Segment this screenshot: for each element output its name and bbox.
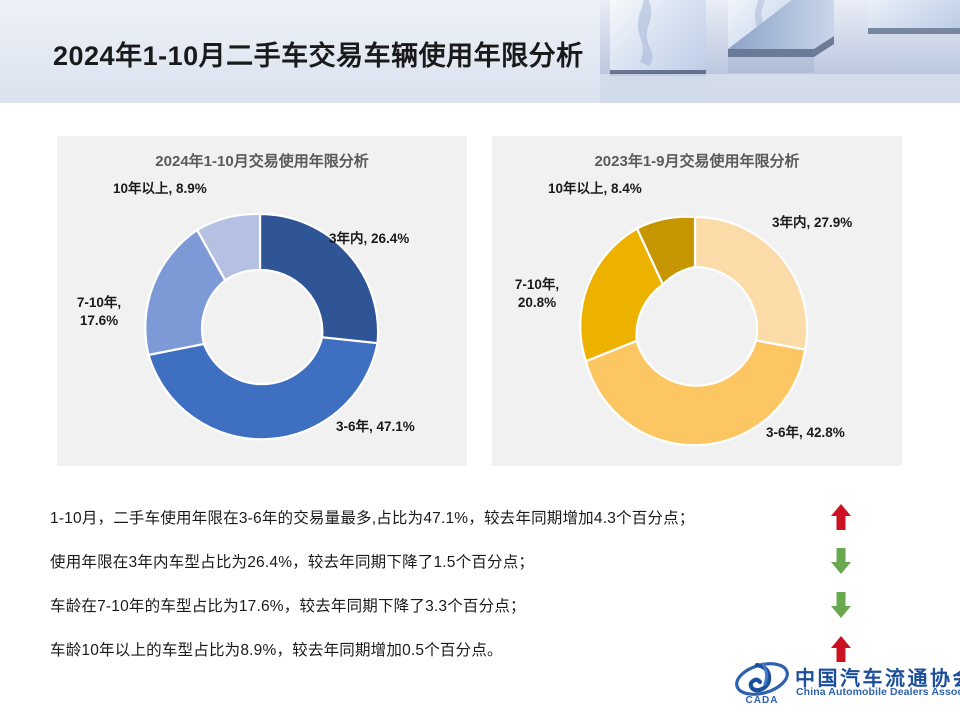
chart-label-2023-3nei: 3年内, 27.9%: [772, 214, 852, 232]
slide: 2024年1-10月二手车交易车辆使用年限分析 2024年1-10月交易使用年限…: [0, 0, 960, 720]
logo-name-en: China Automobile Dealers Association: [796, 686, 960, 698]
chart-label-2024-710: 7-10年, 17.6%: [63, 294, 135, 329]
chart-label-2023-36: 3-6年, 42.8%: [766, 424, 845, 442]
chart-label-2023-710: 7-10年, 20.8%: [498, 276, 576, 311]
chart-label-2023-710-line1: 7-10年,: [515, 277, 559, 292]
chart-label-2024-710-line2: 17.6%: [80, 313, 118, 328]
chart-panel-2023: 2023年1-9月交易使用年限分析 10年以上, 8.4% 3年内, 27.9%…: [492, 136, 902, 466]
chart-label-2023-10plus: 10年以上, 8.4%: [548, 180, 642, 198]
list-item: 1-10月，二手车使用年限在3-6年的交易量最多,占比为47.1%，较去年同期增…: [50, 495, 910, 539]
list-item: 车龄在7-10年的车型占比为17.6%，较去年同期下降了3.3个百分点；: [50, 583, 910, 627]
organization-logo: CADA 中国汽车流通协会 China Automobile Dealers A…: [733, 660, 945, 708]
chart-label-2024-36: 3-6年, 47.1%: [336, 418, 415, 436]
cada-emblem-icon: CADA: [733, 660, 793, 706]
bullet-text: 1-10月，二手车使用年限在3-6年的交易量最多,占比为47.1%，较去年同期增…: [50, 506, 695, 528]
arrow-down-icon: [830, 547, 852, 575]
bullet-text: 使用年限在3年内车型占比为26.4%，较去年同期下降了1.5个百分点；: [50, 550, 534, 572]
chart-label-2024-710-line1: 7-10年,: [77, 295, 121, 310]
arrow-up-icon: [830, 503, 852, 531]
summary-bullet-list: 1-10月，二手车使用年限在3-6年的交易量最多,占比为47.1%，较去年同期增…: [50, 495, 910, 671]
slide-header: 2024年1-10月二手车交易车辆使用年限分析: [0, 0, 960, 103]
donut-chart-2023-svg: [570, 204, 820, 454]
page-title: 2024年1-10月二手车交易车辆使用年限分析: [53, 34, 584, 73]
blue-cubes-world-map-decoration: [600, 0, 960, 103]
svg-text:CADA: CADA: [746, 695, 779, 706]
chart-label-2024-10plus: 10年以上, 8.9%: [113, 180, 207, 198]
bullet-text: 车龄在7-10年的车型占比为17.6%，较去年同期下降了3.3个百分点；: [50, 594, 526, 616]
chart-label-2024-3nei: 3年内, 26.4%: [329, 230, 409, 248]
arrow-up-icon: [830, 635, 852, 663]
chart-label-2023-710-line2: 20.8%: [518, 295, 556, 310]
bullet-text: 车龄10年以上的车型占比为8.9%，较去年同期增加0.5个百分点。: [50, 638, 503, 660]
chart-panel-2024: 2024年1-10月交易使用年限分析 10年以上, 8.9% 3年内, 26.4…: [57, 136, 467, 466]
donut-slice-2023-3nei: [695, 217, 807, 350]
list-item: 使用年限在3年内车型占比为26.4%，较去年同期下降了1.5个百分点；: [50, 539, 910, 583]
arrow-down-icon: [830, 591, 852, 619]
